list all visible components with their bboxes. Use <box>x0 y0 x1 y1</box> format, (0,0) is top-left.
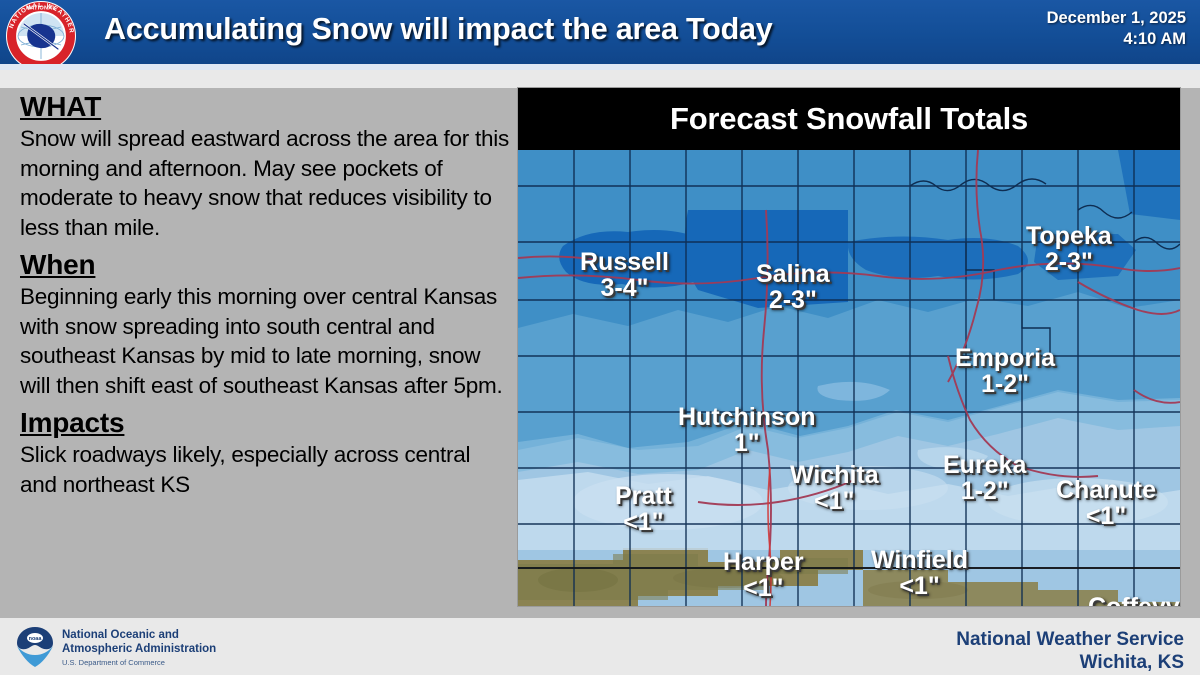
office-location: Wichita, KS <box>956 651 1184 674</box>
svg-text:noaa: noaa <box>29 636 43 642</box>
info-panel: WHAT Snow will spread eastward across th… <box>0 88 515 618</box>
header-date: December 1, 2025 <box>1047 8 1186 29</box>
noaa-agency-text: National Oceanic and Atmospheric Adminis… <box>62 628 216 667</box>
noaa-line-3: U.S. Department of Commerce <box>62 658 216 667</box>
header-datetime: December 1, 2025 4:10 AM <box>1047 8 1186 49</box>
office-name: National Weather Service <box>956 628 1184 651</box>
section-heading-when: When <box>20 250 509 280</box>
map-canvas: Russell3-4"Salina2-3"Topeka2-3"Emporia1-… <box>518 150 1180 606</box>
section-body-when: Beginning early this morning over centra… <box>20 282 509 400</box>
header-time: 4:10 AM <box>1047 29 1186 50</box>
noaa-line-1: National Oceanic and <box>62 628 216 642</box>
noaa-line-2: Atmospheric Administration <box>62 642 216 656</box>
office-identifier: National Weather Service Wichita, KS <box>956 628 1184 674</box>
section-heading-what: WHAT <box>20 92 509 122</box>
header-banner: NATIONAL ★ ★ ★ NATIONAL WEATHER SERVICE … <box>0 0 1200 64</box>
section-body-what: Snow will spread eastward across the are… <box>20 124 509 242</box>
weather-graphic-page: NATIONAL ★ ★ ★ NATIONAL WEATHER SERVICE … <box>0 0 1200 675</box>
map-title: Forecast Snowfall Totals <box>518 88 1180 150</box>
footer-bar: noaa National Oceanic and Atmospheric Ad… <box>0 618 1200 675</box>
header-title: Accumulating Snow will impact the area T… <box>104 12 964 47</box>
header-light-strip <box>0 70 1200 88</box>
section-heading-impacts: Impacts <box>20 408 509 438</box>
section-body-impacts: Slick roadways likely, especially across… <box>20 440 509 499</box>
snowfall-map: Forecast Snowfall Totals <box>518 88 1180 606</box>
nws-logo-icon: NATIONAL ★ ★ ★ NATIONAL WEATHER SERVICE <box>4 0 78 73</box>
noaa-logo-icon: noaa <box>14 626 56 668</box>
